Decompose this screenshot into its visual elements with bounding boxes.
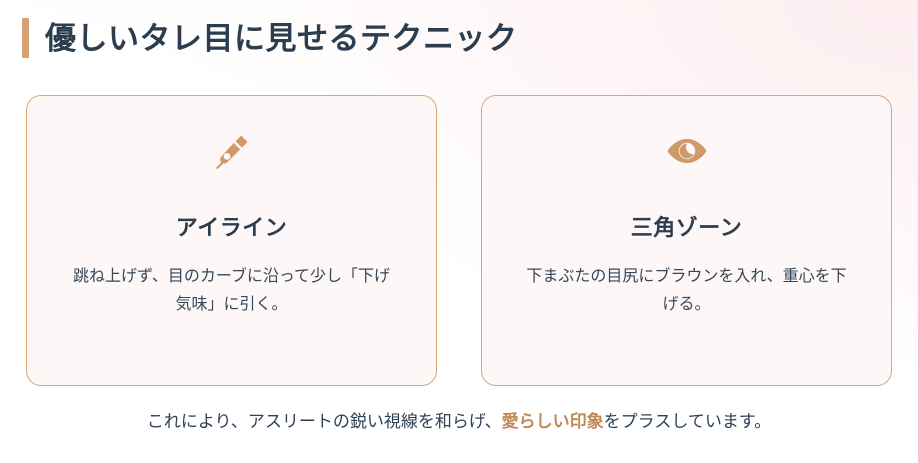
eye-icon <box>665 129 709 173</box>
technique-card-title: 三角ゾーン <box>631 215 742 241</box>
summary-note-tail: をプラスしています。 <box>604 412 771 431</box>
technique-section: 優しいタレ目に見せるテクニック アイライン 跳ね上げず、目のカーブに沿って少し「… <box>0 0 918 463</box>
technique-card-triangle-zone[interactable]: 三角ゾーン 下まぶたの目尻にブラウンを入れ、重心を下げる。 <box>481 95 892 386</box>
section-heading: 優しいタレ目に見せるテクニック <box>22 14 518 62</box>
summary-note-highlight: 愛らしい印象 <box>502 412 604 431</box>
summary-note-lead: これにより、アスリートの鋭い視線を和らげ、 <box>147 412 502 431</box>
technique-card-body: 下まぶたの目尻にブラウンを入れ、重心を下げる。 <box>522 263 852 319</box>
pen-nib-icon <box>210 129 254 173</box>
technique-card-list: アイライン 跳ね上げず、目のカーブに沿って少し「下げ気味」に引く。 三角ゾーン … <box>26 95 892 386</box>
technique-card-title: アイライン <box>176 215 287 241</box>
heading-accent-bar <box>22 18 29 58</box>
technique-card-eyeline[interactable]: アイライン 跳ね上げず、目のカーブに沿って少し「下げ気味」に引く。 <box>26 95 437 386</box>
summary-note: これにより、アスリートの鋭い視線を和らげ、愛らしい印象をプラスしています。 <box>0 408 918 435</box>
page-title: 優しいタレ目に見せるテクニック <box>45 23 518 54</box>
technique-card-body: 跳ね上げず、目のカーブに沿って少し「下げ気味」に引く。 <box>67 263 397 319</box>
